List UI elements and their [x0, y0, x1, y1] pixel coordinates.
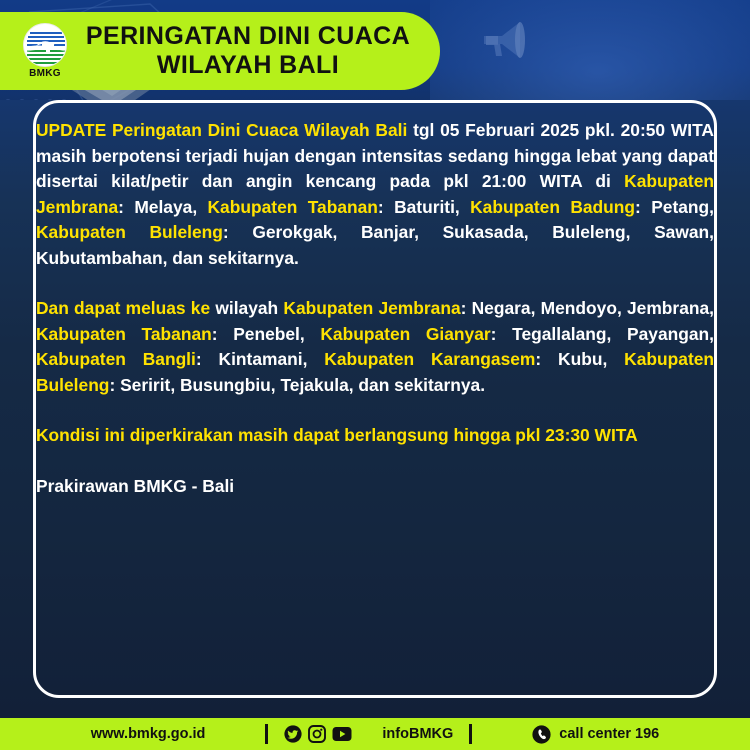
footer-bar: www.bmkg.go.id infoBMKG: [0, 718, 750, 750]
p2-region-0-areas: Negara, Mendoyo, Jembrana,: [472, 298, 714, 318]
page-title-line1: PERINGATAN DINI CUACA: [82, 22, 414, 52]
p2-region-3-name: Kabupaten Bangli: [36, 349, 196, 369]
p2-region-3-sep: :: [196, 349, 219, 369]
p2-region-0-name: Kabupaten Jembrana: [283, 298, 460, 318]
p2-region-4-areas: Kubu,: [558, 349, 624, 369]
p2-region-1-sep: :: [212, 324, 233, 344]
p1-region-1-areas: Baturiti,: [394, 197, 470, 217]
p2-region-2-areas: Tegallalang, Payangan,: [512, 324, 714, 344]
twitter-icon[interactable]: [284, 725, 302, 743]
paragraph-gap-3: [36, 449, 714, 474]
p1-region-2-areas: Petang,: [651, 197, 714, 217]
paragraph-gap-1: [36, 271, 714, 296]
bmkg-logo-label: BMKG: [29, 68, 61, 79]
p2-region-5-sep: :: [109, 375, 120, 395]
page-title-line2: WILAYAH BALI: [82, 51, 414, 81]
bmkg-logo-icon: [23, 23, 67, 67]
footer-social-group: infoBMKG: [284, 725, 453, 743]
p1-lead-highlight: UPDATE Peringatan Dini Cuaca Wilayah Bal…: [36, 120, 407, 140]
p2-region-2-name: Kabupaten Gianyar: [320, 324, 490, 344]
footer-website[interactable]: www.bmkg.go.id: [91, 726, 206, 742]
phone-icon[interactable]: [532, 725, 551, 744]
p1-region-1-name: Kabupaten Tabanan: [208, 197, 378, 217]
warning-content: UPDATE Peringatan Dini Cuaca Wilayah Bal…: [36, 118, 714, 499]
p2-lead-rest: wilayah: [210, 298, 283, 318]
header-banner: BMKG PERINGATAN DINI CUACA WILAYAH BALI: [0, 12, 440, 90]
footer-call-center[interactable]: call center 196: [559, 726, 659, 742]
p1-region-3-name: Kabupaten Buleleng: [36, 222, 223, 242]
page-title: PERINGATAN DINI CUACA WILAYAH BALI: [82, 22, 440, 81]
footer-call-group: call center 196: [532, 725, 659, 744]
weather-warning-poster: BMKG PERINGATAN DINI CUACA WILAYAH BALI …: [0, 0, 750, 750]
paragraph-duration: Kondisi ini diperkirakan masih dapat ber…: [36, 423, 714, 449]
footer-social-handle[interactable]: infoBMKG: [382, 726, 453, 742]
p2-region-1-name: Kabupaten Tabanan: [36, 324, 212, 344]
p1-region-1-sep: :: [378, 197, 394, 217]
paragraph-signature: Prakirawan BMKG - Bali: [36, 474, 714, 500]
p2-region-2-sep: :: [491, 324, 512, 344]
p2-region-3-areas: Kintamani,: [219, 349, 325, 369]
p2-region-0-sep: :: [461, 298, 472, 318]
p1-region-2-sep: :: [635, 197, 651, 217]
p1-region-2-name: Kabupaten Badung: [470, 197, 635, 217]
p1-region-0-sep: :: [118, 197, 134, 217]
youtube-icon[interactable]: [332, 726, 352, 742]
p2-lead-highlight: Dan dapat meluas ke: [36, 298, 210, 318]
paragraph-expansion-warning: Dan dapat meluas ke wilayah Kabupaten Je…: [36, 296, 714, 398]
paragraph-current-warning: UPDATE Peringatan Dini Cuaca Wilayah Bal…: [36, 118, 714, 271]
footer-divider-1: [265, 724, 268, 744]
bmkg-logo: BMKG: [8, 23, 82, 79]
paragraph-gap-2: [36, 398, 714, 423]
instagram-icon[interactable]: [308, 725, 326, 743]
p2-region-5-areas: Seririt, Busungbiu, Tejakula, dan sekita…: [120, 375, 485, 395]
footer-divider-2: [469, 724, 472, 744]
p2-region-1-areas: Penebel,: [233, 324, 320, 344]
p1-region-3-sep: :: [223, 222, 252, 242]
p2-region-4-name: Kabupaten Karangasem: [324, 349, 535, 369]
p2-region-4-sep: :: [535, 349, 558, 369]
p1-region-0-areas: Melaya,: [134, 197, 207, 217]
megaphone-icon: [480, 18, 540, 62]
